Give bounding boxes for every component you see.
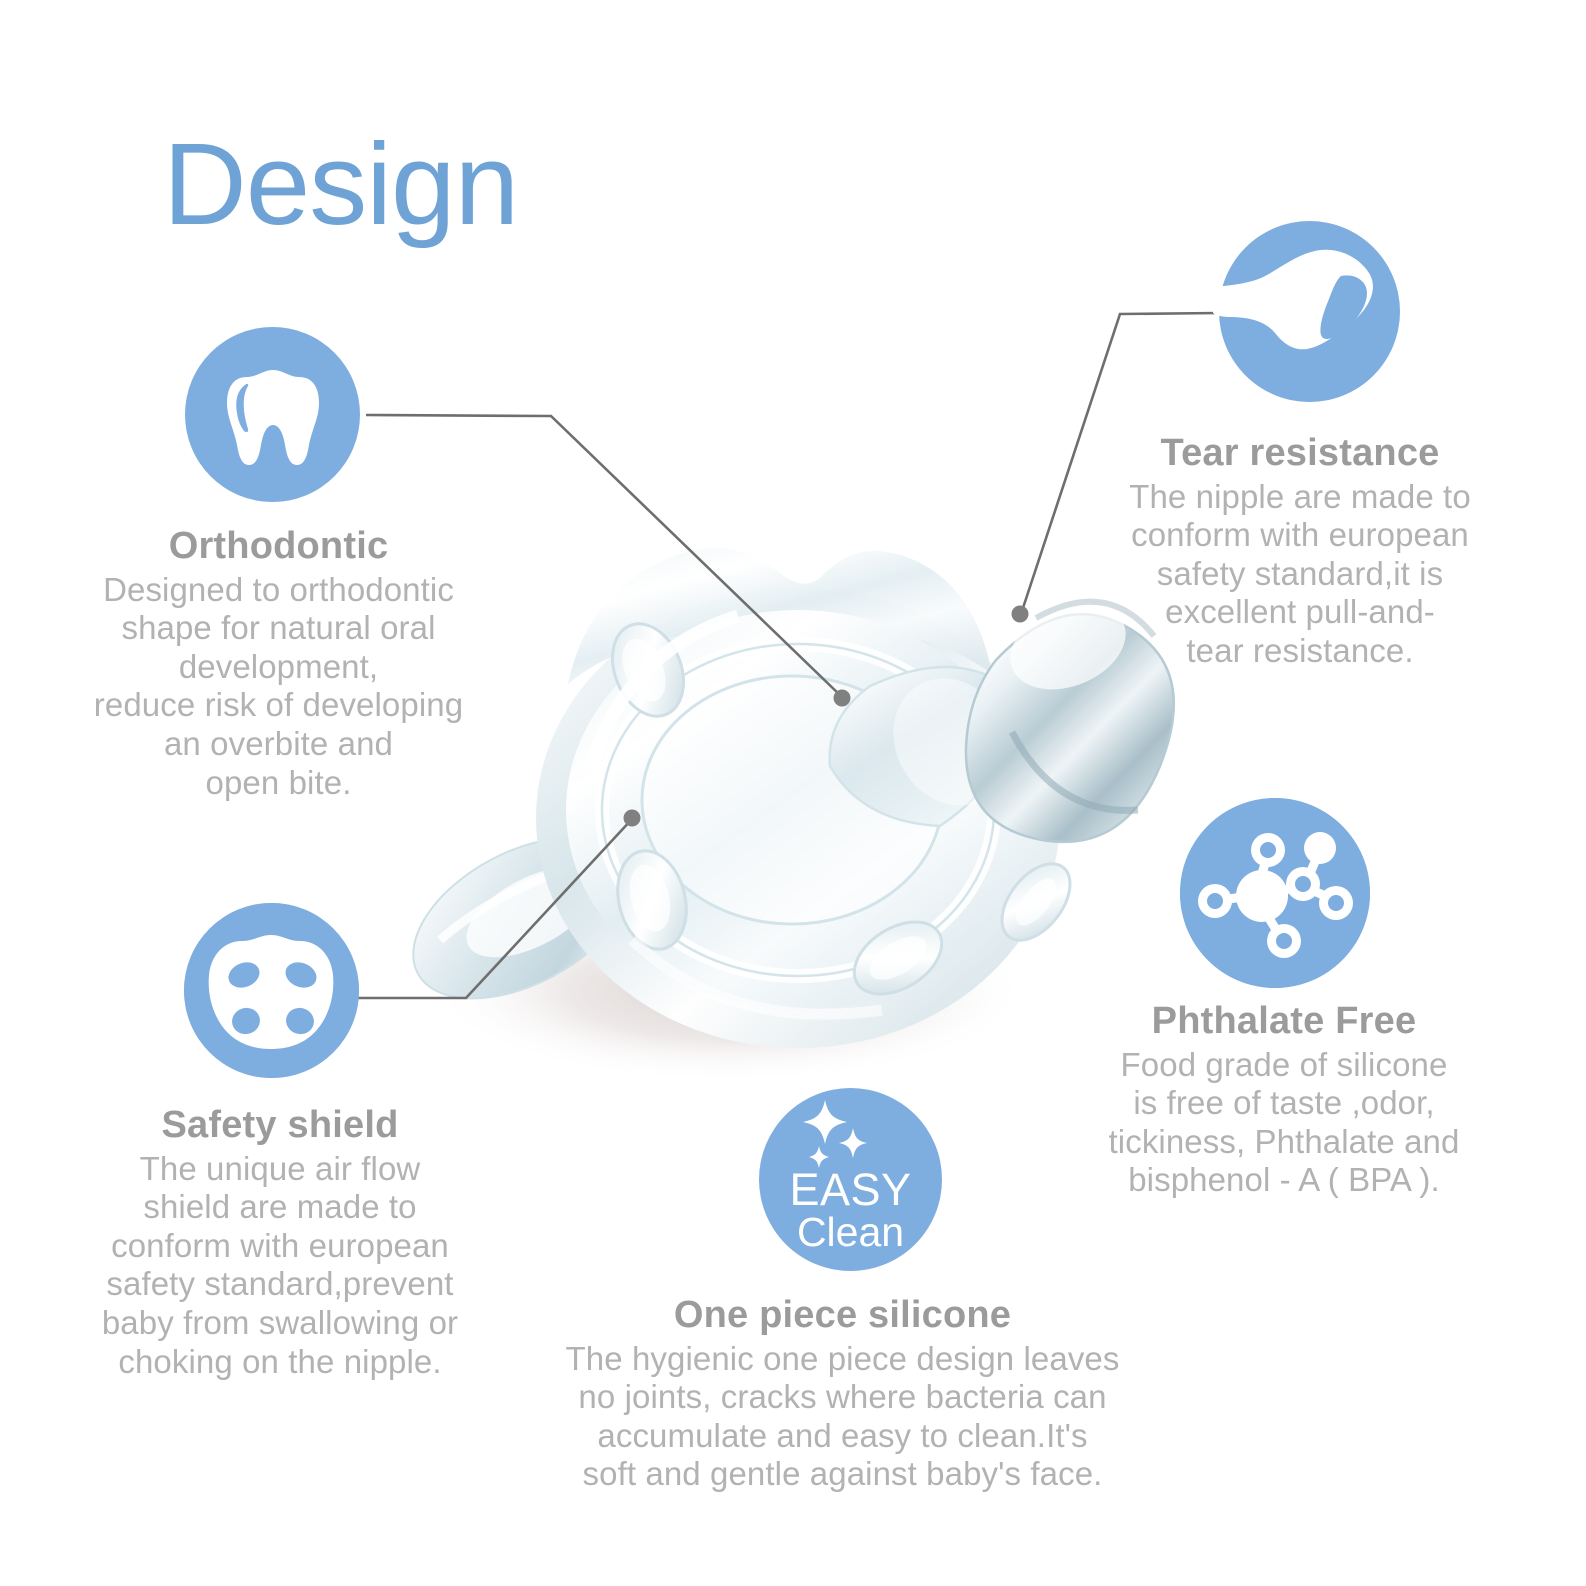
feature-heading-phthalate-free: Phthalate Free bbox=[1064, 1000, 1504, 1043]
feature-body-phthalate-free: Food grade of siliconeis free of taste ,… bbox=[1064, 1046, 1504, 1200]
badge-easy-clean: EASY Clean bbox=[759, 1088, 942, 1271]
anchor-dot-tear-resistance bbox=[1012, 606, 1029, 623]
feature-body-orthodontic: Designed to orthodonticshape for natural… bbox=[60, 571, 497, 803]
feature-block-phthalate-free: Phthalate Free Food grade of siliconeis … bbox=[1064, 1000, 1504, 1200]
air-flow-shield-icon bbox=[184, 903, 359, 1078]
feature-heading-tear-resistance: Tear resistance bbox=[1092, 432, 1508, 475]
feature-body-tear-resistance: The nipple are made toconform with europ… bbox=[1092, 478, 1508, 671]
feature-block-orthodontic: Orthodontic Designed to orthodonticshape… bbox=[60, 525, 497, 802]
feature-body-one-piece-silicone: The hygienic one piece design leavesno j… bbox=[520, 1340, 1165, 1494]
infographic-canvas: Design bbox=[0, 0, 1586, 1586]
feature-heading-one-piece-silicone: One piece silicone bbox=[520, 1294, 1165, 1337]
feature-block-safety-shield: Safety shield The unique air flowshield … bbox=[68, 1104, 492, 1381]
badge-tear-resistance bbox=[1219, 221, 1400, 402]
badge-safety-shield bbox=[184, 903, 359, 1078]
feature-heading-safety-shield: Safety shield bbox=[68, 1104, 492, 1147]
anchor-dot-orthodontic bbox=[834, 690, 851, 707]
connector-safety-shield bbox=[358, 818, 633, 998]
feature-block-tear-resistance: Tear resistance The nipple are made toco… bbox=[1092, 432, 1508, 671]
feature-heading-orthodontic: Orthodontic bbox=[60, 525, 497, 568]
easy-clean-line2: Clean bbox=[797, 1211, 904, 1254]
anchor-dot-safety-shield bbox=[624, 810, 641, 827]
badge-orthodontic bbox=[185, 327, 360, 502]
nipple-icon bbox=[1219, 221, 1400, 402]
feature-block-one-piece-silicone: One piece silicone The hygienic one piec… bbox=[520, 1294, 1165, 1494]
sparkles-icon bbox=[797, 1100, 877, 1170]
tooth-icon bbox=[223, 361, 323, 469]
molecule-icon bbox=[1180, 798, 1370, 988]
feature-body-safety-shield: The unique air flowshield are made tocon… bbox=[68, 1150, 492, 1382]
badge-phthalate-free bbox=[1180, 798, 1370, 988]
easy-clean-line1: EASY bbox=[789, 1168, 911, 1211]
